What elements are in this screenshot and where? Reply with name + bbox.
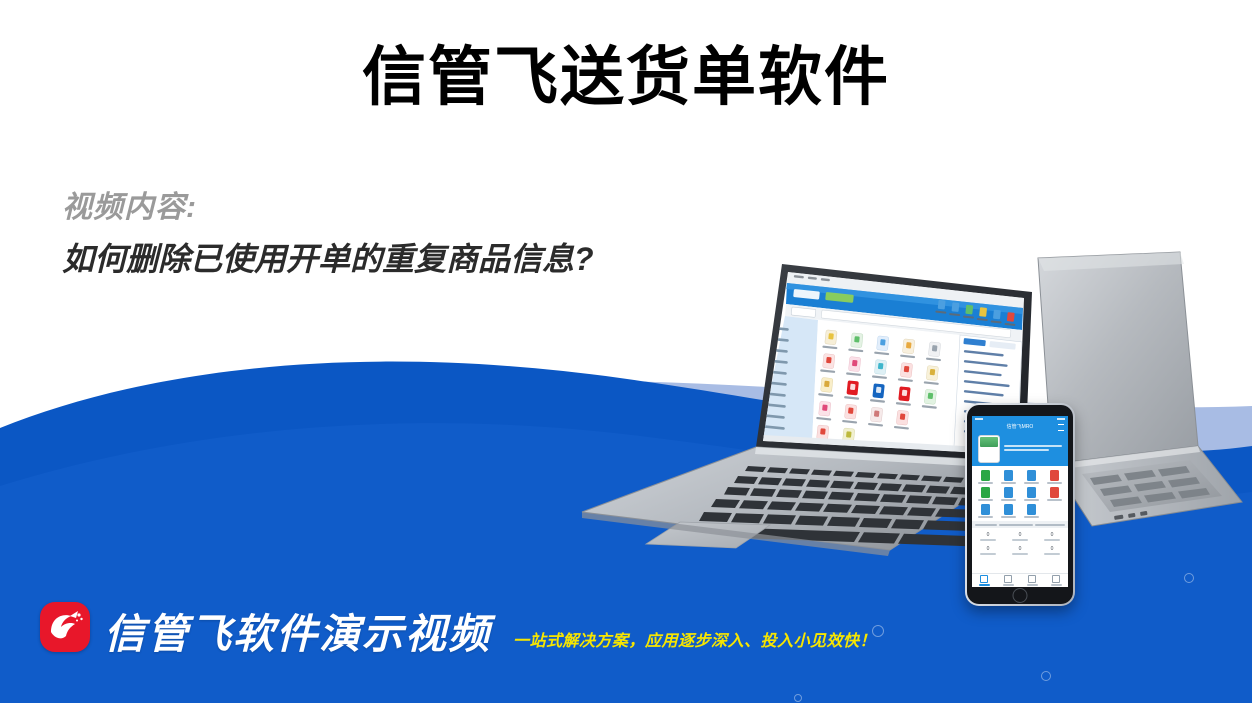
slide-canvas: 信管飞MRO — [0, 0, 1252, 703]
phone-app-title: 信管飞MRO — [1007, 423, 1034, 430]
phone-bottom-nav — [972, 573, 1068, 587]
brand-tagline: 一站式解决方案，应用逐步深入、投入小见效快！ — [513, 634, 876, 650]
stat-item: 0 — [1004, 532, 1036, 541]
nav-profile[interactable] — [1044, 575, 1068, 586]
phone-app-titlebar: 信管飞MRO — [972, 421, 1068, 432]
decor-ring — [1041, 671, 1051, 681]
stat-item: 0 — [972, 532, 1004, 541]
hamburger-icon[interactable] — [1058, 424, 1064, 431]
footer-brand-bar: 信管飞软件演示视频 一站式解决方案，应用逐步深入、投入小见效快！ — [40, 602, 876, 655]
xinguanfei-logo-icon — [40, 602, 90, 652]
phone-home-button[interactable] — [1013, 588, 1028, 603]
phone-hero-banner — [972, 432, 1068, 466]
subtitle-block: 视频内容: 如何删除已使用开单的重复商品信息? — [62, 188, 702, 281]
hero-caption — [1004, 445, 1062, 453]
phone-icon-grid — [972, 466, 1068, 521]
stat-item: 0 — [1036, 532, 1068, 541]
grid-item[interactable] — [1020, 470, 1043, 484]
grid-item[interactable] — [974, 487, 997, 501]
stat-item: 0 — [1036, 546, 1068, 555]
nav-home[interactable] — [972, 575, 996, 586]
brand-name: 信管飞软件演示视频 — [104, 614, 491, 655]
status-time — [975, 418, 983, 420]
nav-documents[interactable] — [996, 575, 1020, 586]
page-title: 信管飞送货单软件 — [0, 44, 1252, 111]
video-content-question: 如何删除已使用开单的重复商品信息? — [62, 239, 702, 281]
decor-ring — [794, 694, 802, 702]
stat-item: 0 — [972, 546, 1004, 555]
nav-reports[interactable] — [1020, 575, 1044, 586]
grid-item[interactable] — [1043, 487, 1066, 501]
device-mockup-group: 信管飞MRO — [560, 240, 1252, 660]
grid-item[interactable] — [997, 504, 1020, 518]
phone-stats-grid: 0 0 0 0 0 0 — [972, 528, 1068, 573]
decor-ring — [1184, 573, 1194, 583]
phone-section-header — [972, 521, 1068, 528]
grid-item[interactable] — [1020, 487, 1043, 501]
grid-item[interactable] — [1020, 504, 1043, 518]
phone-screen: 信管飞MRO — [972, 416, 1068, 587]
stat-item: 0 — [1004, 546, 1036, 555]
grid-item[interactable] — [997, 470, 1020, 484]
status-icons — [1057, 418, 1065, 420]
grid-item[interactable] — [974, 504, 997, 518]
video-content-label: 视频内容: — [62, 188, 702, 227]
grid-item[interactable] — [997, 487, 1020, 501]
grid-item[interactable] — [1043, 470, 1066, 484]
grid-item[interactable] — [974, 470, 997, 484]
smartphone: 信管飞MRO — [965, 403, 1075, 606]
hero-device-image — [978, 435, 1000, 463]
